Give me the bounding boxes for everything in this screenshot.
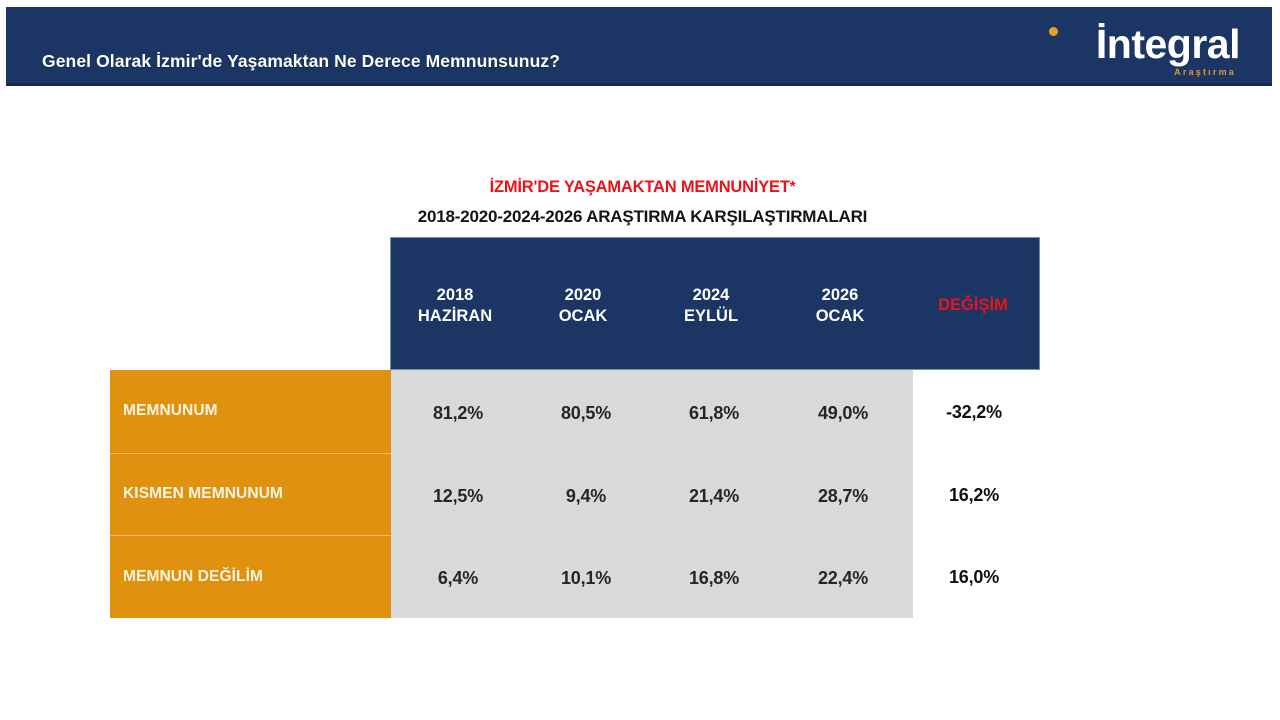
row-label-memnun-degilim: MEMNUN DEĞİLİM — [110, 535, 391, 618]
column-header-2018-year: 2018 — [391, 285, 519, 306]
cell-memnunum-change: -32,2% — [908, 402, 1040, 423]
column-header-2024: 2024 EYLÜL — [647, 285, 775, 327]
row-label-memnunum: MEMNUNUM — [110, 370, 391, 453]
table-header-row: 2018 HAZİRAN 2020 OCAK 2024 EYLÜL 2026 O… — [390, 237, 1040, 370]
footnote-asterisk: * — [790, 178, 796, 195]
cell-memnunum-2020: 80,5% — [522, 403, 650, 424]
column-header-2026-year: 2026 — [776, 285, 904, 306]
cell-kismen-memnunum-change: 16,2% — [908, 485, 1040, 506]
cell-memnun-degilim-2024: 16,8% — [650, 568, 778, 589]
column-header-2026-month: OCAK — [776, 306, 904, 327]
cell-memnunum-2018: 81,2% — [394, 403, 522, 424]
chart-title: İZMİR'DE YAŞAMAKTAN MEMNUNİYET* — [0, 178, 1280, 197]
cell-memnunum-2024: 61,8% — [650, 403, 778, 424]
comparison-table: 2018 HAZİRAN 2020 OCAK 2024 EYLÜL 2026 O… — [0, 0, 1280, 720]
chart-title-text: İZMİR'DE YAŞAMAKTAN MEMNUNİYET — [490, 178, 790, 196]
cell-kismen-memnunum-2024: 21,4% — [650, 486, 778, 507]
logo-wordmark: İntegral — [1010, 21, 1240, 67]
column-header-2020-month: OCAK — [519, 306, 647, 327]
column-header-2020-year: 2020 — [519, 285, 647, 306]
app-header-bar: Genel Olarak İzmir'de Yaşamaktan Ne Dere… — [6, 7, 1272, 86]
chart-subtitle: 2018-2020-2024-2026 ARAŞTIRMA KARŞILAŞTI… — [0, 207, 1280, 227]
cell-memnun-degilim-2026: 22,4% — [779, 568, 907, 589]
orange-dot-icon — [1049, 27, 1058, 36]
column-header-2018-month: HAZİRAN — [391, 306, 519, 327]
page-title: Genel Olarak İzmir'de Yaşamaktan Ne Dere… — [42, 51, 560, 72]
column-header-2026: 2026 OCAK — [776, 285, 904, 327]
integral-logo: İntegral Araştırma — [1010, 19, 1240, 85]
row-label-kismen-memnunum: KISMEN MEMNUNUM — [110, 453, 391, 536]
column-header-2018: 2018 HAZİRAN — [391, 285, 519, 327]
column-header-2024-year: 2024 — [647, 285, 775, 306]
logo-i-stem: İ — [1096, 21, 1107, 67]
column-header-2024-month: EYLÜL — [647, 306, 775, 327]
cell-memnunum-2026: 49,0% — [779, 403, 907, 424]
logo-wordmark-text: ntegral — [1107, 21, 1240, 67]
column-header-change: DEĞİŞİM — [907, 295, 1039, 316]
cell-memnun-degilim-2018: 6,4% — [394, 568, 522, 589]
cell-memnun-degilim-change: 16,0% — [908, 567, 1040, 588]
table-label-column: MEMNUNUM KISMEN MEMNUNUM MEMNUN DEĞİLİM — [110, 370, 391, 618]
logo-subtext: Araştırma — [1174, 67, 1236, 77]
column-header-2020: 2020 OCAK — [519, 285, 647, 327]
cell-kismen-memnunum-2026: 28,7% — [779, 486, 907, 507]
cell-kismen-memnunum-2020: 9,4% — [522, 486, 650, 507]
cell-kismen-memnunum-2018: 12,5% — [394, 486, 522, 507]
cell-memnun-degilim-2020: 10,1% — [522, 568, 650, 589]
